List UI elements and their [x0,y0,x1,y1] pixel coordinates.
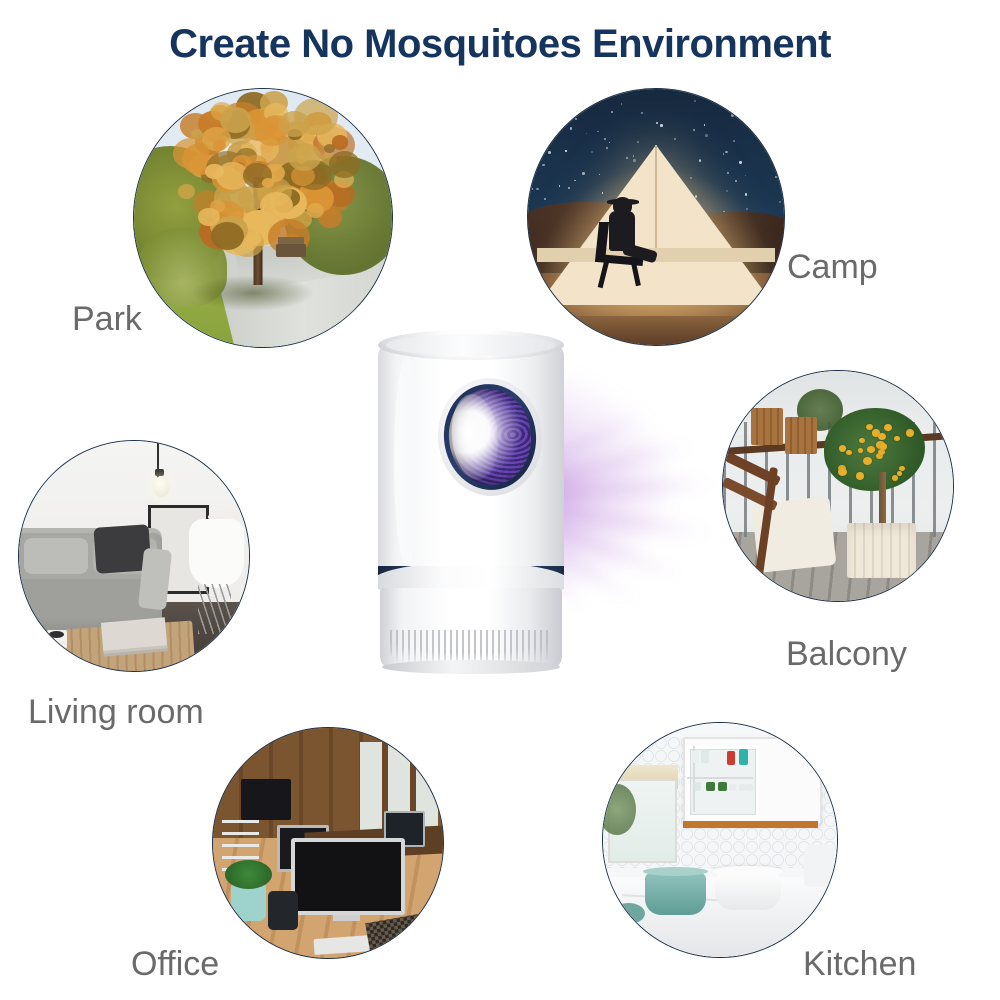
camp-illustration [528,89,784,345]
scene-circle-office [212,727,444,959]
mosquito-killer-lamp [378,330,564,675]
park-tree-canopy [165,94,361,264]
scene-circle-living-room [18,440,250,672]
hanging-planter-2 [785,417,817,454]
scene-label-kitchen: Kitchen [803,945,916,984]
cabinet-shelf [687,777,753,779]
office-monitor-far [241,779,292,820]
scene-label-camp: Camp [787,248,878,287]
camp-person-silhouette [605,197,647,287]
white-planter-box [847,523,916,578]
lamp-bottom-edge [382,660,560,674]
scene-label-balcony: Balcony [786,635,907,674]
office-backpack [268,891,298,930]
office-plant [231,884,266,921]
office-illustration [213,728,443,958]
page-title: Create No Mosquitoes Environment [0,22,1000,67]
scene-circle-kitchen [602,722,838,958]
poster-canvas: Create No Mosquitoes Environment Park [0,0,1000,1000]
scene-circle-camp [527,88,785,346]
scene-label-office: Office [131,945,219,984]
mug [47,630,68,651]
lamp-vents [390,630,552,662]
living-room-illustration [19,441,249,671]
scene-circle-balcony [722,370,954,602]
wooden-folding-chair [723,458,806,596]
chair-wire-legs [198,584,230,635]
scene-circle-park [133,88,393,348]
pendant-cap [155,469,164,476]
sofa-cushion-left [24,538,88,575]
white-chair [189,519,244,588]
lamp-top-inner-rim [386,334,556,356]
lamp-highlight [394,356,420,566]
park-illustration [134,89,392,347]
office-monitor-main [291,838,405,915]
scene-label-park: Park [72,300,142,339]
balcony-illustration [723,371,953,601]
teal-casserole-pot [645,873,706,915]
scene-label-living-room: Living room [28,693,204,732]
pendant-bulb [153,476,170,497]
camp-tent-center-seam [655,145,657,253]
kitchen-illustration [603,723,837,957]
stand-mixer [804,845,834,887]
white-casserole-pot [715,873,781,910]
hanging-planter-1 [751,408,783,445]
wood-ledge [683,821,819,828]
park-bench [276,244,306,257]
sofa-seat [19,579,157,616]
